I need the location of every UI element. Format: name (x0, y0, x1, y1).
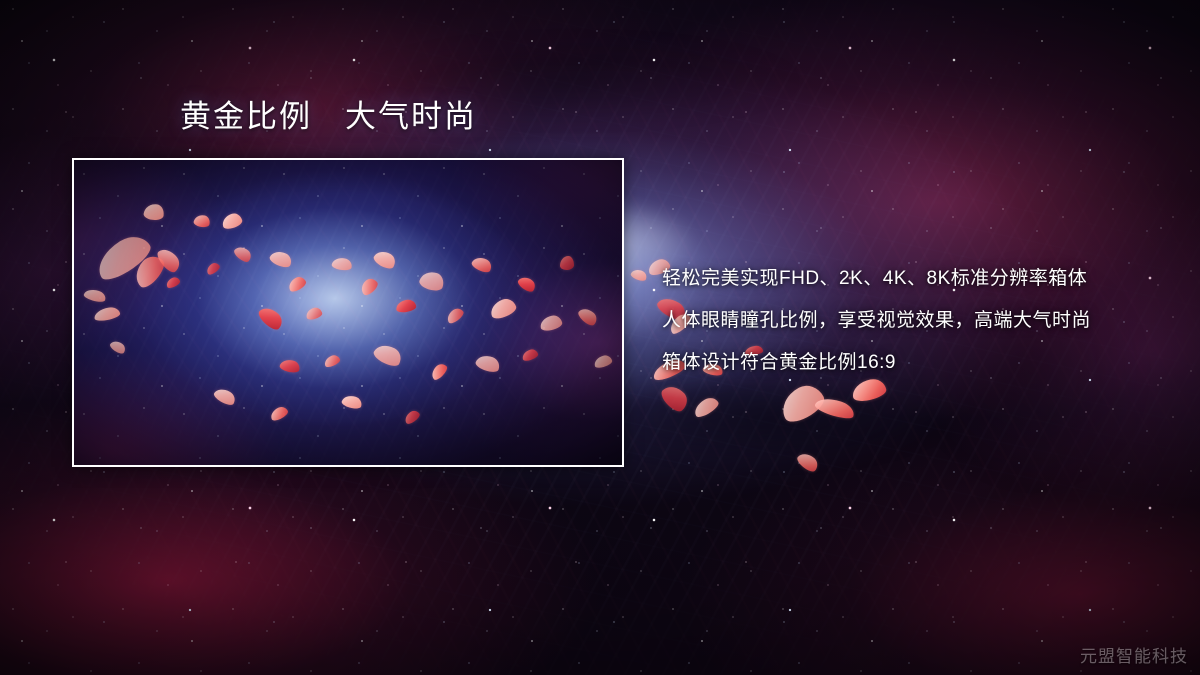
body-line-2: 人体眼睛瞳孔比例，享受视觉效果，高端大气时尚 (662, 300, 1182, 342)
body-text-block: 轻松完美实现FHD、2K、4K、8K标准分辨率箱体 人体眼睛瞳孔比例，享受视觉效… (662, 258, 1182, 384)
slide-title: 黄金比例 大气时尚 (180, 99, 477, 135)
body-line-1: 轻松完美实现FHD、2K、4K、8K标准分辨率箱体 (662, 258, 1182, 300)
slide-canvas: 黄金比例 大气时尚 轻松完美实现FHD、2K、4K、8K标准分辨率箱体 人体眼睛… (0, 0, 1200, 675)
petal (630, 267, 649, 282)
body-line-3: 箱体设计符合黄金比例16:9 (662, 342, 1182, 384)
image-frame[interactable] (72, 158, 624, 467)
image-frame-content (74, 160, 622, 465)
watermark: 元盟智能科技 (1080, 642, 1188, 667)
frame-vignette (74, 160, 622, 465)
petal (795, 450, 821, 475)
petal (691, 394, 721, 419)
petal (658, 381, 692, 415)
